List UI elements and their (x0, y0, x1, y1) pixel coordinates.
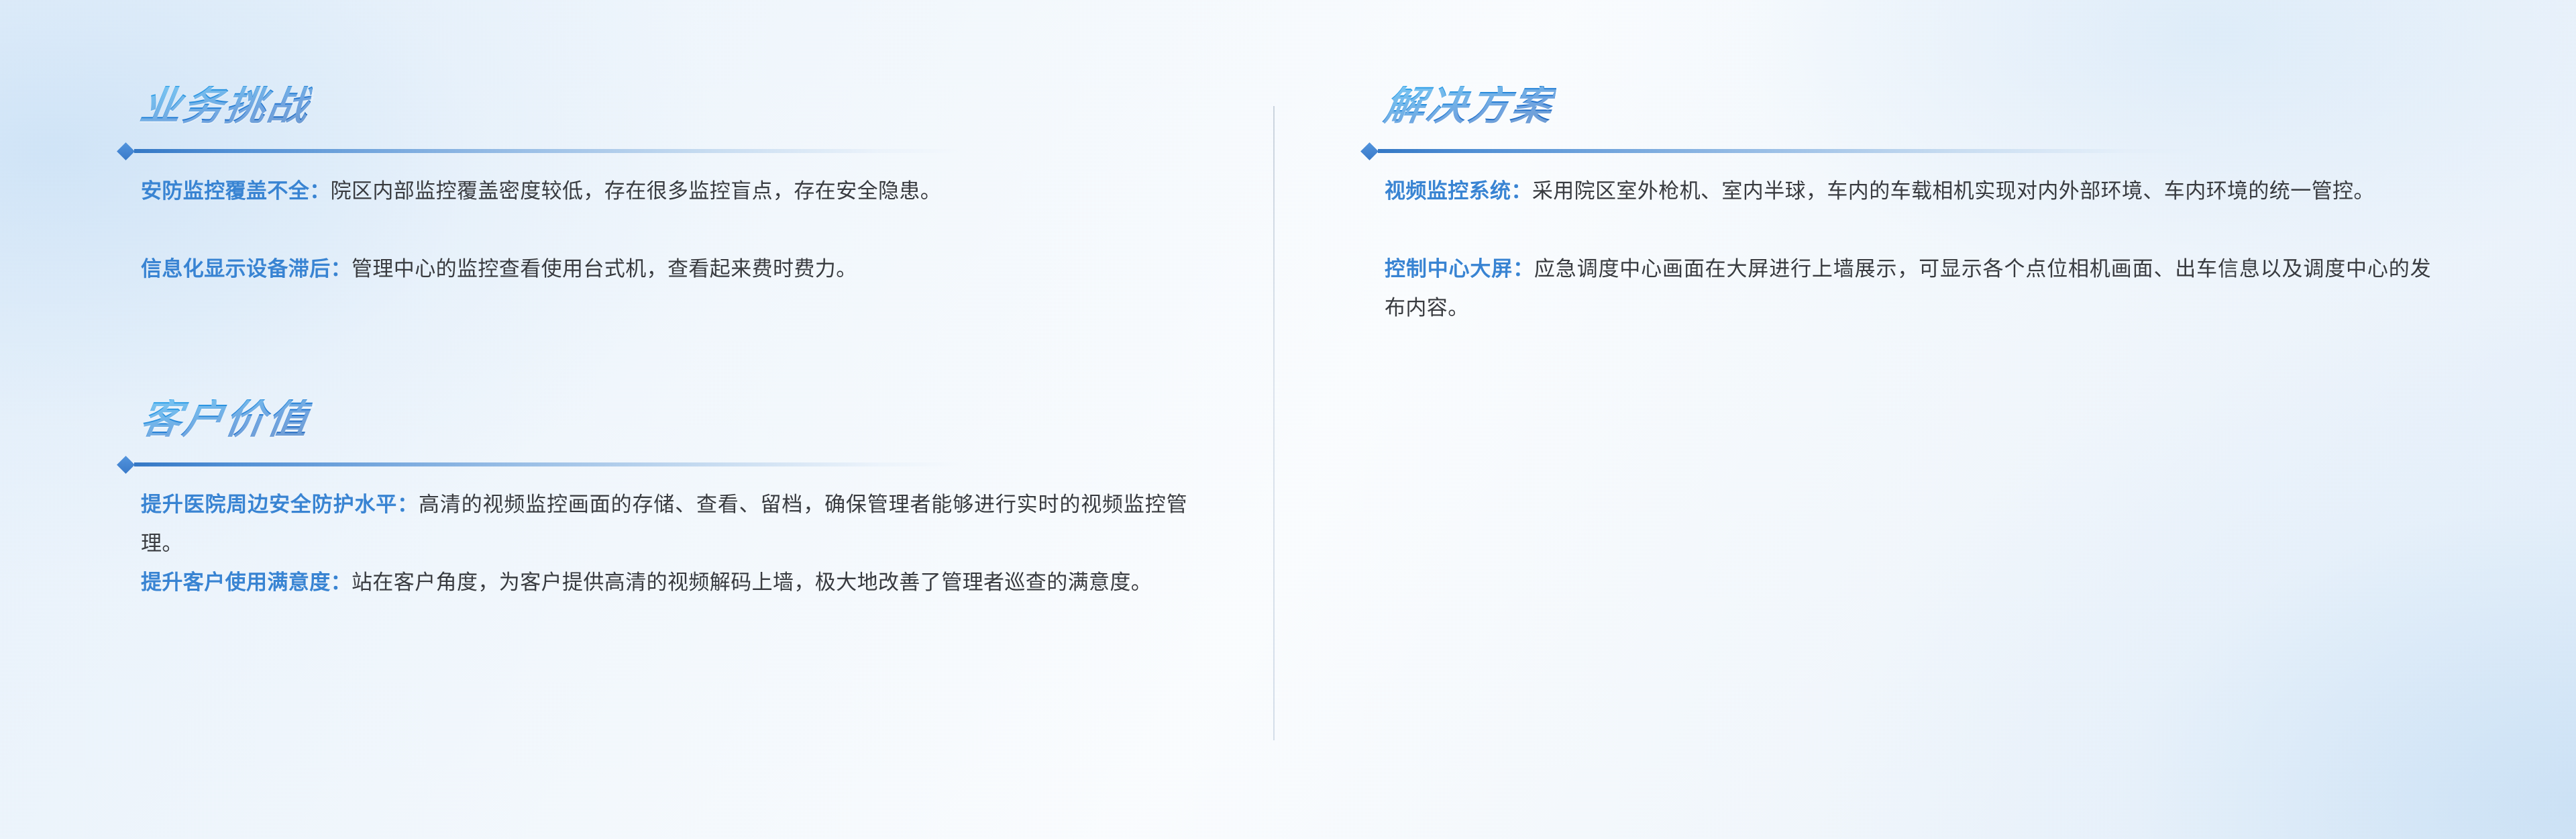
section-business-challenge: 业务挑战 安防监控覆盖不全：院区内部监控覆盖密度较低，存在很多监控盲点，存在安全… (119, 86, 1206, 161)
section-solution: 解决方案 视频监控系统：采用院区室外枪机、室内半球，车内的车载相机实现对内外部环… (1363, 86, 2463, 161)
diamond-icon (117, 142, 135, 160)
heading-rule (1363, 141, 2463, 160)
diamond-icon (1360, 142, 1379, 160)
slide-canvas: 业务挑战 安防监控覆盖不全：院区内部监控覆盖密度较低，存在很多监控盲点，存在安全… (0, 0, 2576, 839)
section-customer-value: 客户价值 提升医院周边安全防护水平：高清的视频监控画面的存储、查看、留档，确保管… (119, 399, 1206, 475)
paragraph-lead: 控制中心大屏： (1385, 257, 1534, 281)
heading-underline (1378, 149, 2206, 153)
section-heading-customer-value: 客户价值 (119, 399, 1206, 475)
diamond-icon (117, 456, 135, 474)
heading-underline (134, 462, 963, 466)
paragraph-item: 信息化显示设备滞后：管理中心的监控查看使用台式机，查看起来费时费力。 (141, 250, 1187, 289)
heading-underline (134, 149, 963, 153)
paragraph-body: 管理中心的监控查看使用台式机，查看起来费时费力。 (352, 257, 857, 281)
heading-label: 解决方案 (1381, 86, 1557, 126)
paragraph-body: 院区内部监控覆盖密度较低，存在很多监控盲点，存在安全隐患。 (331, 179, 942, 203)
heading-rule (119, 454, 1206, 473)
paragraph-item: 提升医院周边安全防护水平：高清的视频监控画面的存储、查看、留档，确保管理者能够进… (141, 485, 1187, 563)
paragraph-lead: 视频监控系统： (1385, 179, 1532, 203)
column-divider (1273, 106, 1275, 740)
paragraph-body: 站在客户角度，为客户提供高清的视频解码上墙，极大地改善了管理者巡查的满意度。 (352, 571, 1152, 594)
paragraph-item: 安防监控覆盖不全：院区内部监控覆盖密度较低，存在很多监控盲点，存在安全隐患。 (141, 172, 1187, 211)
section-heading-business-challenge: 业务挑战 (119, 86, 1206, 161)
paragraph-lead: 信息化显示设备滞后： (141, 257, 352, 281)
heading-label: 客户价值 (138, 399, 313, 440)
paragraph-item: 视频监控系统：采用院区室外枪机、室内半球，车内的车载相机实现对内外部环境、车内环… (1385, 172, 2431, 211)
paragraph-body: 采用院区室外枪机、室内半球，车内的车载相机实现对内外部环境、车内环境的统一管控。 (1532, 179, 2375, 203)
paragraph-lead: 提升医院周边安全防护水平： (141, 493, 419, 516)
section-heading-solution: 解决方案 (1363, 86, 2463, 161)
paragraph-item: 控制中心大屏：应急调度中心画面在大屏进行上墙展示，可显示各个点位相机画面、出车信… (1385, 250, 2431, 328)
heading-rule (119, 141, 1206, 160)
paragraph-item: 提升客户使用满意度：站在客户角度，为客户提供高清的视频解码上墙，极大地改善了管理… (141, 563, 1187, 602)
paragraph-body: 应急调度中心画面在大屏进行上墙展示，可显示各个点位相机画面、出车信息以及调度中心… (1385, 257, 2431, 319)
paragraph-lead: 提升客户使用满意度： (141, 571, 352, 594)
heading-label: 业务挑战 (138, 86, 313, 126)
paragraph-lead: 安防监控覆盖不全： (141, 179, 331, 203)
